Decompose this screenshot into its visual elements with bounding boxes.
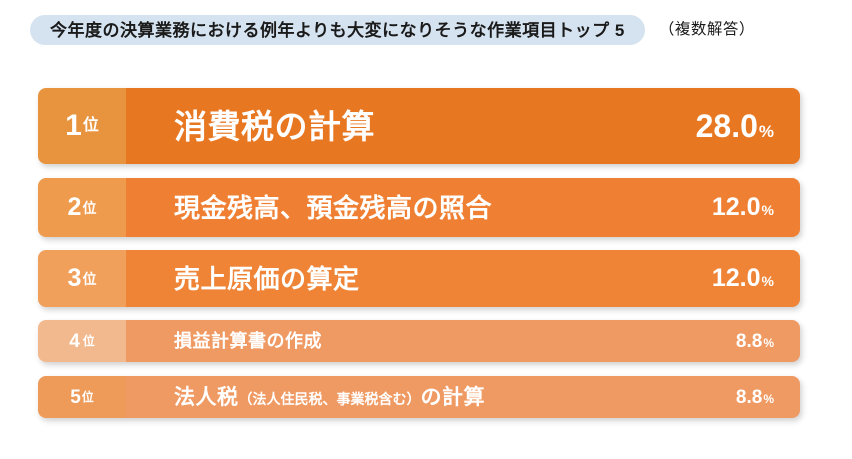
title-pill: 今年度の決算業務における例年よりも大変になりそうな作業項目トップ 5 [30, 15, 645, 45]
item-label-3: 売上原価の算定 [174, 266, 360, 292]
value-group-5: 8.8% [736, 388, 774, 407]
ranking-bar-1[interactable]: 1 位 消費税の計算 28.0% [38, 88, 800, 164]
percent-symbol-2: % [762, 203, 774, 217]
chart-header: 今年度の決算業務における例年よりも大変になりそうな作業項目トップ 5 （複数解答… [0, 13, 852, 47]
percent-symbol-3: % [762, 274, 774, 288]
value-group-4: 8.8% [736, 332, 774, 351]
bar-body-5: 法人税（法人住民税、事業税含む）の計算 8.8% [126, 376, 800, 418]
rank-number-2: 2 [68, 195, 82, 220]
value-group-3: 12.0% [712, 266, 774, 291]
bar-body-1: 消費税の計算 28.0% [126, 88, 800, 164]
value-number-4: 8.8 [736, 332, 762, 351]
rank-number-5: 5 [70, 388, 81, 407]
item-label-2: 現金残高、預金残高の照合 [174, 195, 492, 221]
rank-suffix-1: 位 [83, 118, 99, 134]
item-label-4: 損益計算書の作成 [174, 332, 322, 350]
rank-number-4: 4 [69, 332, 80, 351]
percent-symbol-1: % [759, 123, 774, 140]
rank-suffix-3: 位 [82, 272, 96, 286]
item-label-5-tail: の計算 [421, 387, 486, 408]
rank-number-1: 1 [65, 111, 82, 141]
rank-number-3: 3 [68, 266, 82, 291]
item-label-5-parenthetical: （法人住民税、事業税含む） [239, 392, 421, 406]
value-group-2: 12.0% [712, 195, 774, 220]
value-number-5: 8.8 [736, 388, 762, 407]
rank-badge-1: 1 位 [38, 88, 126, 164]
rank-badge-5: 5 位 [38, 376, 126, 418]
rank-badge-3: 3 位 [38, 250, 126, 307]
value-number-3: 12.0 [712, 266, 761, 291]
rank-suffix-5: 位 [82, 391, 94, 403]
percent-symbol-5: % [763, 393, 774, 405]
page-title: 今年度の決算業務における例年よりも大変になりそうな作業項目トップ 5 [50, 22, 625, 39]
rank-suffix-4: 位 [83, 335, 95, 347]
bar-body-3: 売上原価の算定 12.0% [126, 250, 800, 307]
value-group-1: 28.0% [696, 110, 774, 142]
ranking-bar-3[interactable]: 3 位 売上原価の算定 12.0% [38, 250, 800, 307]
item-label-5-main: 法人税 [174, 387, 239, 408]
value-number-2: 12.0 [712, 195, 761, 220]
ranking-chart: 1 位 消費税の計算 28.0% 2 位 現金残高、預金残高の照合 12.0% [0, 60, 852, 459]
rank-badge-2: 2 位 [38, 178, 126, 237]
ranking-bar-4[interactable]: 4 位 損益計算書の作成 8.8% [38, 320, 800, 362]
rank-badge-4: 4 位 [38, 320, 126, 362]
ranking-bar-5[interactable]: 5 位 法人税（法人住民税、事業税含む）の計算 8.8% [38, 376, 800, 418]
bar-body-2: 現金残高、預金残高の照合 12.0% [126, 178, 800, 237]
ranking-bar-2[interactable]: 2 位 現金残高、預金残高の照合 12.0% [38, 178, 800, 237]
rank-suffix-2: 位 [82, 201, 96, 215]
item-label-1: 消費税の計算 [174, 110, 375, 143]
bar-body-4: 損益計算書の作成 8.8% [126, 320, 800, 362]
value-number-1: 28.0 [696, 110, 758, 142]
multiple-answer-note: （複数解答） [659, 22, 755, 38]
item-label-5: 法人税（法人住民税、事業税含む）の計算 [174, 387, 485, 408]
percent-symbol-4: % [763, 337, 774, 349]
